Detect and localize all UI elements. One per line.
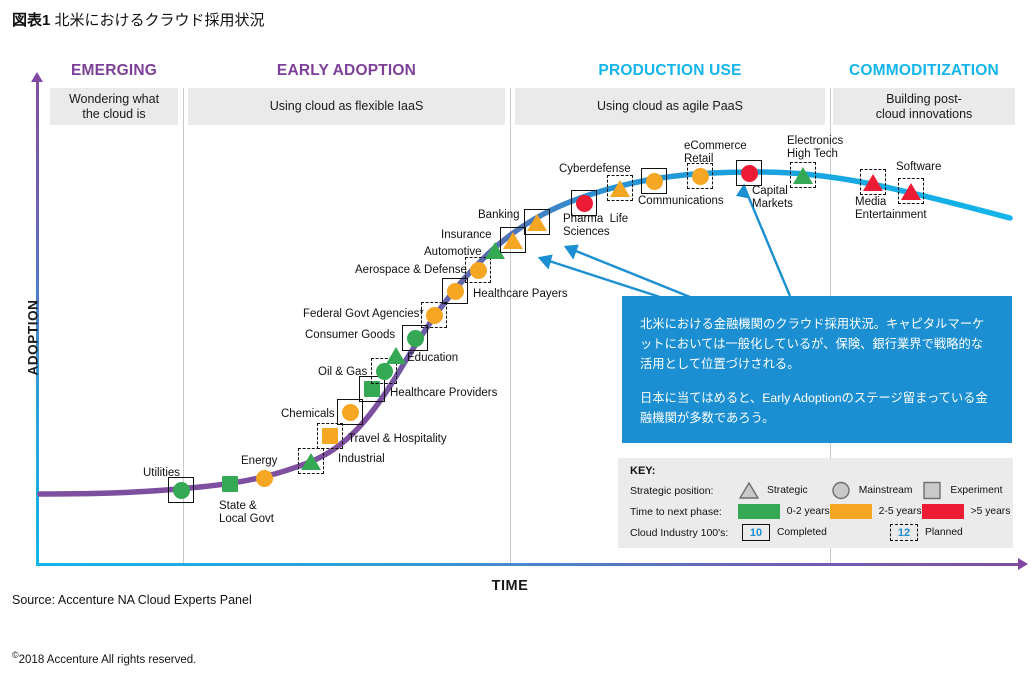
- legend-row-label-0: Strategic position:: [630, 485, 738, 497]
- point-label-15: Banking: [478, 209, 520, 222]
- marker-circle-12[interactable]: [470, 262, 487, 279]
- point-label-0: Utilities: [143, 467, 180, 480]
- marker-square-1[interactable]: [222, 476, 238, 492]
- legend-item-0-2[interactable]: Experiment: [921, 481, 1013, 500]
- point-label-8: Education: [407, 352, 458, 365]
- legend-item-0-1[interactable]: Mainstream: [830, 481, 922, 500]
- marker-circle-0[interactable]: [173, 482, 190, 499]
- legend-title: KEY:: [630, 465, 1013, 477]
- legend-item-1-2[interactable]: >5 years: [922, 504, 1013, 519]
- point-label-9: Consumer Goods: [305, 329, 395, 342]
- legend-row-2: Cloud Industry 100's:10Completed12Planne…: [630, 522, 1013, 543]
- phase-title-3: COMMODITIZATION: [833, 62, 1015, 80]
- marker-triangle-23[interactable]: [901, 183, 921, 200]
- legend-item-1-0[interactable]: 0-2 years: [738, 504, 830, 519]
- point-label-13: Automotive: [424, 246, 482, 259]
- point-label-11: Healthcare Payers: [473, 288, 568, 301]
- circle-outline-icon: [830, 481, 852, 500]
- x-axis-label: TIME: [460, 578, 560, 594]
- legend-numbox-solid: 10: [742, 524, 770, 541]
- point-label-18: Communications: [638, 195, 724, 208]
- legend-item-0-0[interactable]: Strategic: [738, 481, 830, 500]
- marker-triangle-21[interactable]: [793, 167, 813, 184]
- legend-item-text-2-0: Completed: [777, 527, 827, 538]
- point-label-21: ElectronicsHigh Tech: [787, 135, 843, 161]
- copyright-note: ©2018 Accenture All rights reserved.: [12, 650, 196, 666]
- phase-title-2: PRODUCTION USE: [515, 62, 825, 80]
- phase-title-0: EMERGING: [50, 62, 178, 80]
- band-divider-1: [510, 88, 511, 563]
- callout-box: 北米における金融機関のクラウド採用状況。キャピタルマーケットにおいては一般化して…: [622, 296, 1012, 443]
- legend-key-box: KEY: Strategic position:StrategicMainstr…: [618, 458, 1013, 548]
- point-label-17: Cyberdefense: [559, 163, 631, 176]
- marker-circle-16[interactable]: [576, 195, 593, 212]
- page-title: 図表1 北米におけるクラウド採用状況: [12, 9, 265, 30]
- marker-circle-5[interactable]: [342, 404, 359, 421]
- phase-caption-0: Wondering whatthe cloud is: [50, 88, 178, 125]
- legend-row-0: Strategic position:StrategicMainstreamEx…: [630, 480, 1013, 501]
- figure-title-text: 北米におけるクラウド採用状況: [55, 12, 265, 29]
- point-label-6: Healthcare Providers: [390, 387, 497, 400]
- square-outline-icon: [921, 481, 943, 500]
- x-axis-line: [36, 563, 1019, 566]
- marker-circle-9[interactable]: [407, 330, 424, 347]
- legend-row-1: Time to next phase:0-2 years2-5 years>5 …: [630, 501, 1013, 522]
- legend-rows: Strategic position:StrategicMainstreamEx…: [630, 480, 1013, 543]
- source-note: Source: Accenture NA Cloud Experts Panel: [12, 593, 252, 607]
- legend-item-text-1-0: 0-2 years: [787, 506, 830, 517]
- point-label-10: Federal Govt Agencies*: [303, 308, 424, 321]
- legend-item-2-0[interactable]: 10Completed: [742, 524, 890, 541]
- point-label-20: CapitalMarkets: [752, 185, 793, 211]
- point-label-3: Industrial: [338, 453, 385, 466]
- marker-triangle-15[interactable]: [527, 214, 547, 231]
- marker-triangle-17[interactable]: [610, 180, 630, 197]
- legend-item-text-1-2: >5 years: [971, 506, 1011, 517]
- triangle-outline-icon: [738, 481, 760, 500]
- legend-item-text-0-0: Strategic: [767, 485, 808, 496]
- point-label-5: Chemicals: [281, 408, 335, 421]
- point-label-4: Travel & Hospitality: [348, 433, 447, 446]
- point-label-1: State &Local Govt: [219, 500, 274, 526]
- legend-swatch-2-5 years: [830, 504, 872, 519]
- phase-caption-1: Using cloud as flexible IaaS: [188, 88, 505, 125]
- marker-square-4[interactable]: [322, 428, 338, 444]
- point-label-2: Energy: [241, 455, 277, 468]
- marker-circle-18[interactable]: [646, 173, 663, 190]
- legend-item-2-1[interactable]: 12Planned: [890, 524, 1010, 541]
- copyright-text: 2018 Accenture All rights reserved.: [19, 654, 197, 666]
- legend-item-text-0-2: Experiment: [950, 485, 1002, 496]
- callout-paragraph-1: 北米における金融機関のクラウド採用状況。キャピタルマーケットにおいては一般化して…: [622, 296, 1012, 374]
- legend-item-text-0-1: Mainstream: [859, 485, 913, 496]
- figure-number: 図表1: [12, 12, 50, 29]
- marker-triangle-14[interactable]: [503, 232, 523, 249]
- point-label-7: Oil & Gas: [318, 366, 367, 379]
- marker-triangle-3[interactable]: [301, 453, 321, 470]
- legend-item-1-1[interactable]: 2-5 years: [830, 504, 922, 519]
- x-axis-arrow: [1018, 558, 1028, 570]
- point-label-12: Aerospace & Defense: [355, 264, 467, 277]
- legend-item-text-2-1: Planned: [925, 527, 963, 538]
- point-label-14: Insurance: [441, 229, 492, 242]
- legend-numbox-dashed: 12: [890, 524, 918, 541]
- legend-item-text-1-1: 2-5 years: [879, 506, 922, 517]
- copyright-icon: ©: [12, 650, 19, 660]
- marker-triangle-22[interactable]: [863, 174, 883, 191]
- marker-circle-2[interactable]: [256, 470, 273, 487]
- legend-swatch-0-2 years: [738, 504, 780, 519]
- marker-circle-10[interactable]: [426, 307, 443, 324]
- legend-row-label-1: Time to next phase:: [630, 506, 738, 518]
- phase-title-1: EARLY ADOPTION: [188, 62, 505, 80]
- marker-circle-11[interactable]: [447, 283, 464, 300]
- marker-circle-20[interactable]: [741, 165, 758, 182]
- point-label-16: Pharma LifeSciences: [563, 213, 628, 239]
- point-label-23: Software: [896, 161, 941, 174]
- legend-swatch->5 years: [922, 504, 964, 519]
- legend-row-label-2: Cloud Industry 100's:: [630, 527, 742, 539]
- phase-caption-2: Using cloud as agile PaaS: [515, 88, 825, 125]
- phase-caption-3: Building post-cloud innovations: [833, 88, 1015, 125]
- marker-circle-19[interactable]: [692, 168, 709, 185]
- marker-circle-7[interactable]: [376, 363, 393, 380]
- callout-paragraph-2: 日本に当てはめると、Early Adoptionのステージ留まっている金融機関が…: [622, 374, 1012, 428]
- y-axis-label: ADOPTION: [26, 283, 41, 393]
